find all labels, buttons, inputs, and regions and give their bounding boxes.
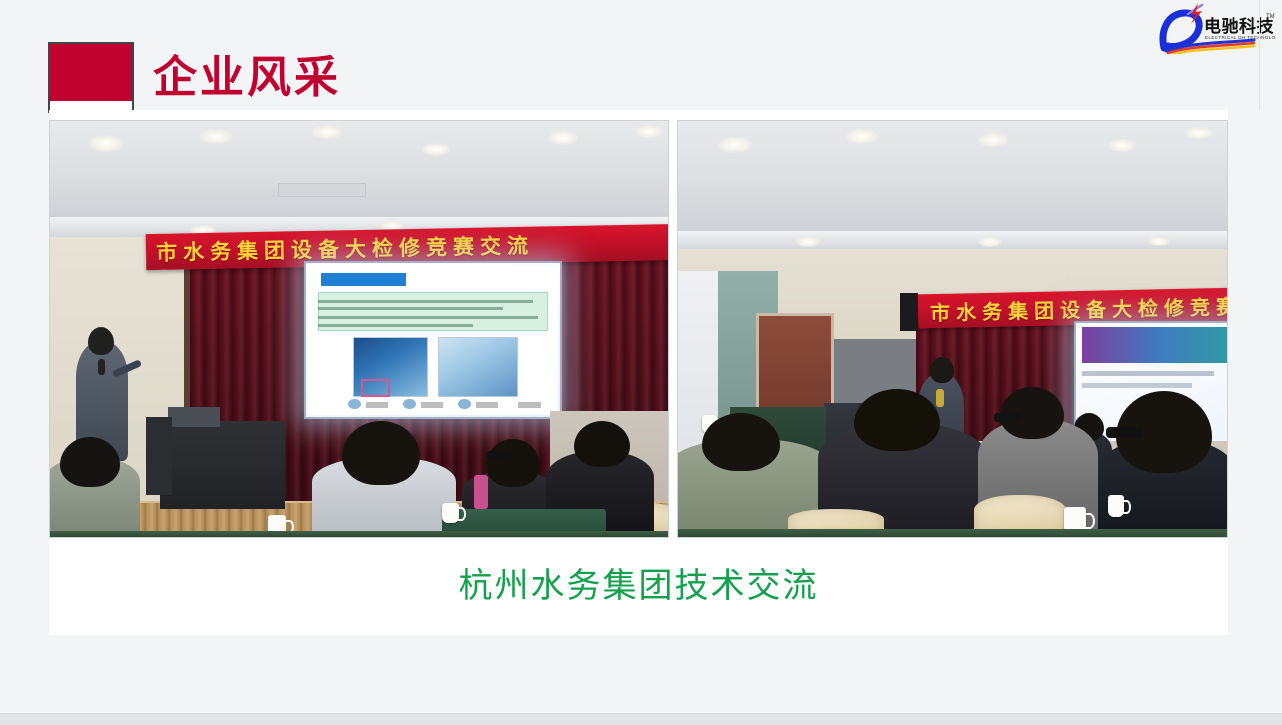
photo-gallery: 市水务集团设备大检修竞赛交流 <box>49 120 1228 538</box>
svg-text:ELECTRICAL DH TECHNOLOGY: ELECTRICAL DH TECHNOLOGY <box>1205 35 1276 40</box>
header-right-divider <box>1259 0 1260 110</box>
section-header: 企业风采 <box>48 34 748 118</box>
photo-1-scene: 市水务集团设备大检修竞赛交流 <box>50 121 668 537</box>
svg-text:TM: TM <box>1266 14 1275 20</box>
gallery-caption: 杭州水务集团技术交流 <box>49 565 1228 609</box>
gallery-photo-1[interactable]: 市水务集团设备大检修竞赛交流 <box>49 120 669 538</box>
photo-2-scene: 市水务集团设备大检修竞赛交 <box>678 121 1227 537</box>
svg-text:电驰科技: 电驰科技 <box>1204 16 1274 36</box>
content-card: 市水务集团设备大检修竞赛交流 <box>49 110 1228 635</box>
page-title: 企业风采 <box>153 48 341 108</box>
page-bottom-edge <box>0 713 1282 725</box>
gallery-photo-2[interactable]: 市水务集团设备大检修竞赛交 <box>677 120 1228 538</box>
page-root: 电驰科技 TM ELECTRICAL DH TECHNOLOGY 企业风采 <box>0 0 1282 724</box>
header-red-mark <box>48 42 134 113</box>
header-red-mark-fill <box>50 44 132 101</box>
